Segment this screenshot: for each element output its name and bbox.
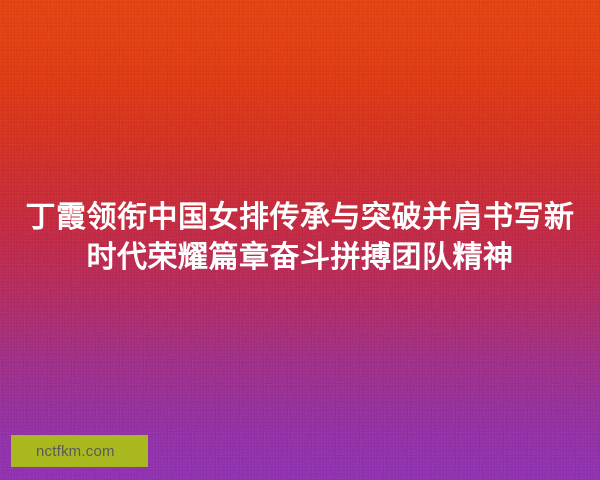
page-title: 丁霞领衔中国女排传承与突破并肩书写新 时代荣耀篇章奋斗拼搏团队精神 <box>0 198 600 278</box>
title-line-2: 时代荣耀篇章奋斗拼搏团队精神 <box>14 238 586 278</box>
watermark-domain-label: nctfkm.com <box>11 444 115 459</box>
article-banner: 丁霞领衔中国女排传承与突破并肩书写新 时代荣耀篇章奋斗拼搏团队精神 nctfkm… <box>0 0 600 480</box>
title-line-1: 丁霞领衔中国女排传承与突破并肩书写新 <box>14 198 586 238</box>
site-watermark-badge: nctfkm.com <box>11 435 148 467</box>
